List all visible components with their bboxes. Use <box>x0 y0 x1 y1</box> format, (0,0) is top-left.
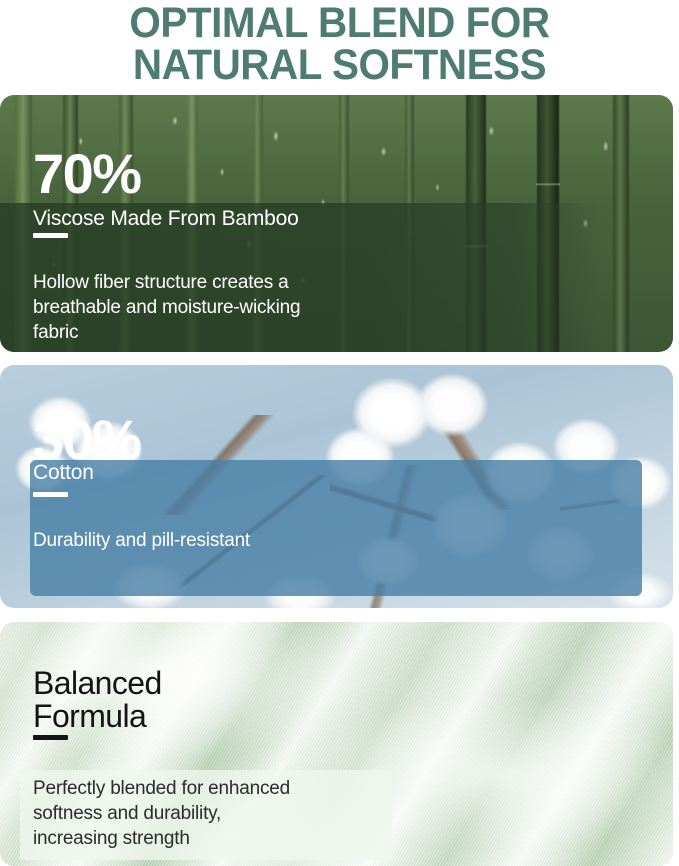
bamboo-divider <box>33 233 68 238</box>
formula-divider <box>33 735 68 740</box>
bamboo-material: Viscose Made From Bamboo <box>33 207 299 231</box>
overlay-text-layer: 70% Viscose Made From Bamboo Hollow fibe… <box>0 0 679 866</box>
formula-description: Perfectly blended for enhanced softness … <box>33 776 383 851</box>
bamboo-percentage: 70% <box>33 146 141 202</box>
cotton-percentage: 30% <box>33 412 141 468</box>
bamboo-description: Hollow fiber structure creates a breatha… <box>33 270 393 345</box>
cotton-divider <box>33 492 68 497</box>
cotton-description: Durability and pill-resistant <box>33 528 363 553</box>
cotton-material: Cotton <box>33 461 94 485</box>
formula-heading: Balanced Formula <box>33 667 162 733</box>
